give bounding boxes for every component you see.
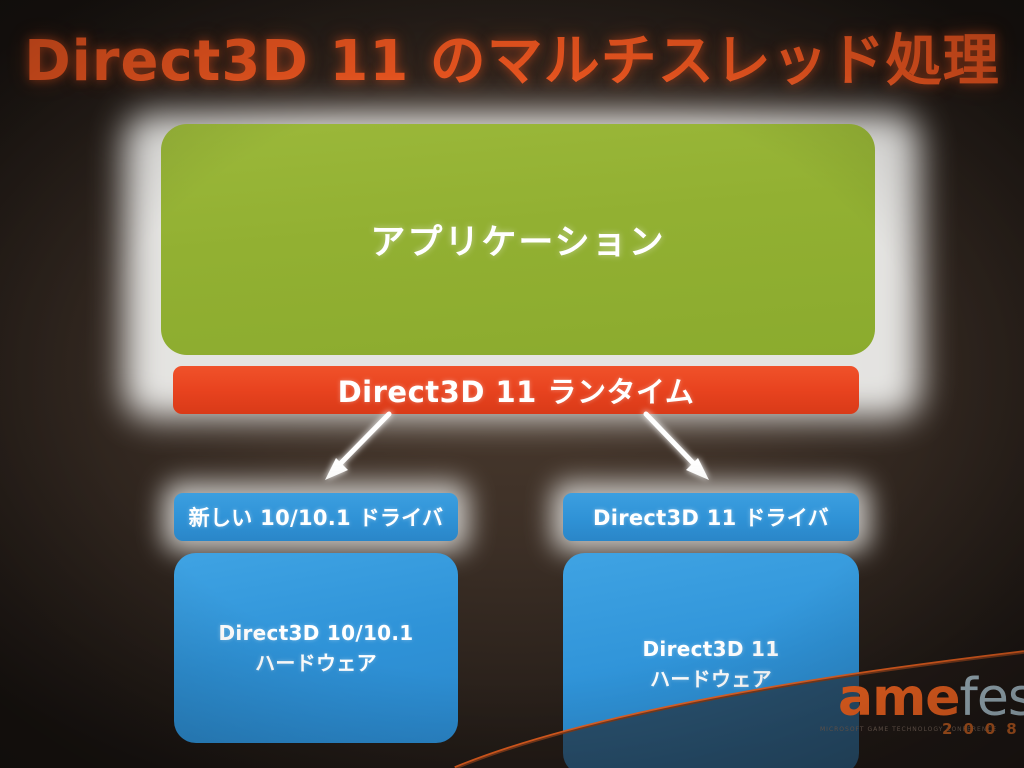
gamefest-logo-fest-text: fest — [960, 668, 1024, 728]
hardware-box-10: Direct3D 10/10.1 ハードウェア — [174, 553, 458, 743]
hardware-box-10-label: Direct3D 10/10.1 ハードウェア — [218, 618, 413, 678]
hardware-box-11-label: Direct3D 11 ハードウェア — [643, 634, 780, 694]
driver-box-10: 新しい 10/10.1 ドライバ — [174, 493, 458, 541]
runtime-bar: Direct3D 11 ランタイム — [173, 366, 859, 414]
driver-box-11-label: Direct3D 11 ドライバ — [593, 502, 829, 532]
hardware-box-10-line2: ハードウェア — [255, 651, 377, 675]
hardware-box-11-line2: ハードウェア — [650, 667, 772, 691]
gamefest-logo-wordmark: amefest — [838, 668, 1024, 728]
driver-box-10-label: 新しい 10/10.1 ドライバ — [189, 502, 444, 532]
gamefest-logo-game-text: ame — [838, 668, 960, 728]
hardware-box-11: Direct3D 11 ハードウェア — [563, 553, 859, 768]
gamefest-logo: amefest MICROSOFT GAME TECHNOLOGY CONFER… — [838, 668, 1024, 768]
application-box: アプリケーション — [161, 124, 875, 355]
arrow-to-left-driver — [325, 414, 389, 480]
presentation-slide: Direct3D 11 のマルチスレッド処理 アプリケーション Direct3D… — [0, 0, 1024, 768]
hardware-box-11-line1: Direct3D 11 — [643, 637, 780, 661]
hardware-box-10-line1: Direct3D 10/10.1 — [218, 621, 413, 645]
slide-title: Direct3D 11 のマルチスレッド処理 — [0, 16, 1024, 97]
arrow-to-right-driver — [646, 414, 709, 480]
driver-box-11: Direct3D 11 ドライバ — [563, 493, 859, 541]
runtime-bar-label: Direct3D 11 ランタイム — [338, 369, 695, 411]
gamefest-logo-year: 2008 — [942, 720, 1024, 738]
application-box-label: アプリケーション — [370, 214, 665, 265]
